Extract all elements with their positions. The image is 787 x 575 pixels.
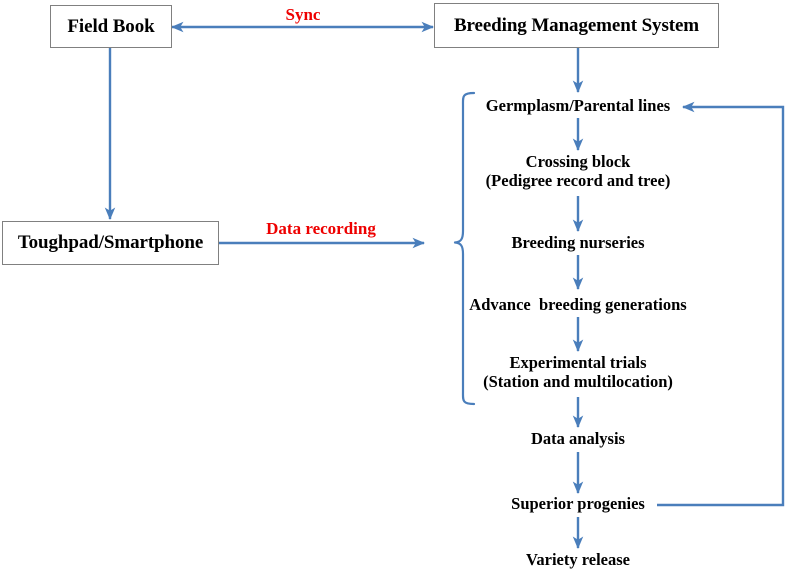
box-field-book[interactable]: Field Book <box>50 5 172 48</box>
stage-experimental-trials[interactable]: Experimental trials (Station and multilo… <box>483 353 673 392</box>
stage-data-analysis[interactable]: Data analysis <box>531 429 625 448</box>
stage-advance-breeding-generations[interactable]: Advance breeding generations <box>469 295 686 314</box>
box-breeding-management-system[interactable]: Breeding Management System <box>434 3 719 48</box>
edge-label-sync: Sync <box>286 5 321 25</box>
box-toughpad-smartphone[interactable]: Toughpad/Smartphone <box>2 221 219 265</box>
stage-variety-release[interactable]: Variety release <box>526 550 630 569</box>
stage-superior-progenies[interactable]: Superior progenies <box>511 494 645 513</box>
connector-layer <box>0 0 787 575</box>
edge-label-data-recording: Data recording <box>266 219 376 239</box>
diagram-canvas: Field Book Breeding Management System To… <box>0 0 787 575</box>
box-field-book-label: Field Book <box>67 16 154 38</box>
pipeline-brace <box>455 93 474 404</box>
box-toughpad-smartphone-label: Toughpad/Smartphone <box>18 232 203 254</box>
stage-crossing-block[interactable]: Crossing block (Pedigree record and tree… <box>486 152 671 191</box>
stage-breeding-nurseries[interactable]: Breeding nurseries <box>511 233 644 252</box>
stage-germplasm-parental-lines[interactable]: Germplasm/Parental lines <box>486 96 670 115</box>
box-breeding-management-system-label: Breeding Management System <box>454 15 699 37</box>
